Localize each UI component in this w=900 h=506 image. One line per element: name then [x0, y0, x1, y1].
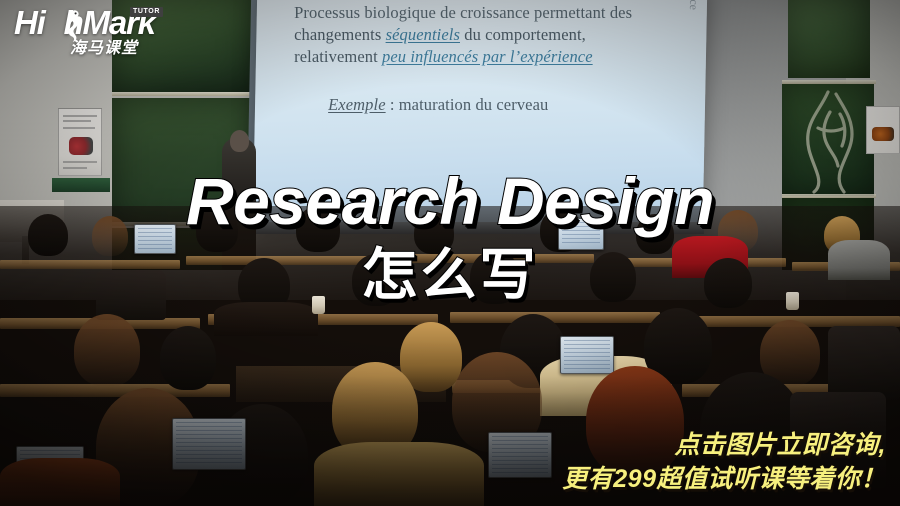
student-head	[74, 314, 140, 386]
student-head	[196, 208, 238, 252]
cover-image-stage: Processus biologique de croissance perme…	[0, 0, 900, 506]
student-head	[28, 214, 68, 256]
chalk-drawing-icon	[788, 88, 872, 194]
logo-tutor-badge: TUTOR	[130, 7, 163, 17]
slide-line-3-emphasis: peu influencés par l’expérience	[382, 47, 593, 66]
desk	[450, 312, 660, 323]
student-head	[414, 212, 454, 254]
desk	[0, 260, 180, 269]
student-body	[314, 442, 484, 506]
slide-line-2: changements séquentiels du comportement,	[294, 24, 690, 46]
student-head	[700, 372, 804, 488]
student-head	[636, 214, 674, 254]
poster-right-graphic	[872, 127, 894, 141]
chalkboard-right-upper	[788, 0, 870, 78]
seahorse-icon	[64, 8, 82, 48]
student-head	[470, 250, 520, 304]
student-head	[590, 252, 636, 302]
slide-example-label: Exemple	[328, 95, 386, 114]
slide-line-2-a: changements	[294, 25, 385, 44]
laptop	[172, 418, 246, 470]
backpack	[790, 392, 886, 488]
wall-shelf-left	[52, 178, 110, 192]
student-head	[296, 206, 340, 252]
student-head	[352, 254, 400, 306]
student-head	[704, 258, 752, 308]
projection-screen: Processus biologique de croissance perme…	[253, 0, 708, 232]
chalk-rail-left-upper	[112, 92, 254, 96]
slide-line-3-a: relativement	[294, 47, 382, 66]
slide-line-3: relativement peu influencés par l’expéri…	[294, 46, 690, 68]
student-body	[214, 302, 318, 336]
student-head	[160, 326, 216, 390]
wall-poster-right	[866, 106, 900, 154]
chalk-rail-right-upper	[782, 80, 876, 84]
lecture-hall-photo: Processus biologique de croissance perme…	[0, 0, 900, 506]
slide-line-1: Processus biologique de croissance perme…	[294, 2, 690, 24]
slide-side-text: ance	[686, 0, 701, 10]
slide-line-2-emphasis: séquentiels	[386, 25, 460, 44]
chalk-rail-right-lower	[782, 194, 876, 198]
backpack	[828, 326, 900, 400]
coffee-cup	[312, 296, 325, 314]
student-body	[0, 458, 120, 506]
student-head	[92, 216, 128, 256]
logo-text-part1: Hi	[14, 4, 45, 41]
laptop	[134, 224, 176, 254]
coffee-cup	[786, 292, 799, 310]
slide-line-4: Exemple : maturation du cerveau	[328, 94, 690, 116]
backpack	[96, 270, 166, 320]
wall-poster-left	[58, 108, 102, 176]
student-audience	[0, 206, 900, 506]
presenter-head	[230, 130, 249, 152]
student-body	[828, 240, 890, 280]
slide-line-2-b: du comportement,	[460, 25, 586, 44]
laptop	[488, 432, 552, 478]
slide-example-text: : maturation du cerveau	[386, 95, 549, 114]
student-head	[586, 366, 684, 476]
brand-logo[interactable]: HighMark TUTOR 海马课堂	[14, 6, 194, 58]
poster-graphic	[69, 137, 93, 155]
laptop	[558, 218, 604, 250]
laptop	[560, 336, 614, 374]
